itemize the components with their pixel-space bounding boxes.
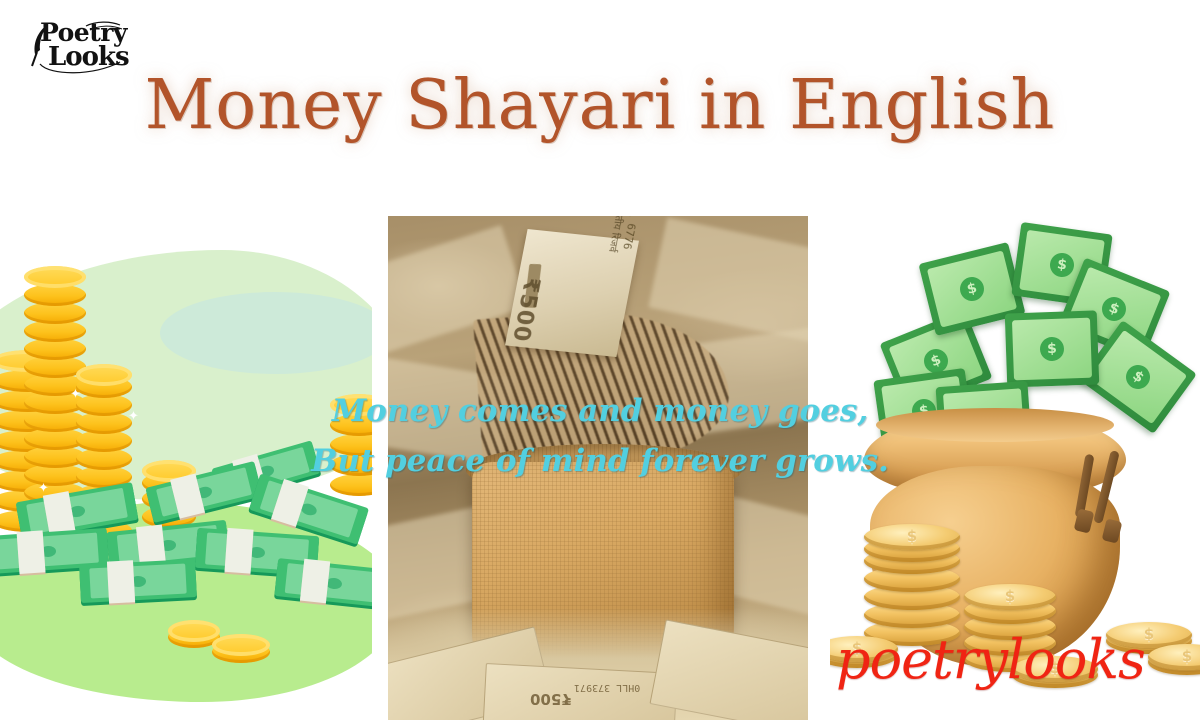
poster-canvas: Poetry Looks Money Shayari in English: [0, 0, 1200, 720]
dollar-bill: $: [1005, 310, 1100, 387]
money-bag-opening: [876, 408, 1114, 442]
floor-note-serial: 0HLL 373971: [574, 682, 640, 693]
right-money-bag-illustration: $ $ $ $ $ $ $ $: [830, 216, 1200, 720]
page-title: Money Shayari in English: [0, 66, 1200, 145]
banknote-bundle: [79, 559, 197, 603]
upright-rupee-note: ₹500 5LL 6776 भारतीय रिजर्व: [505, 229, 639, 357]
sparkle-icon: ✦: [70, 388, 81, 401]
coin-stack-right-edge: [330, 394, 372, 504]
rupee-photograph: ₹500 5LL 6776 भारतीय रिजर्व ₹500 0HLL 37…: [388, 216, 808, 720]
left-money-illustration: ✦ ✦ ✦ ✦: [0, 232, 372, 720]
sparkle-icon: ✦: [38, 482, 49, 495]
sparkle-icon: ✦: [128, 410, 139, 423]
loose-coin: [212, 634, 270, 662]
loose-gold-coin: [1012, 656, 1098, 688]
loose-gold-coin: [1148, 644, 1200, 674]
floor-note-denomination: ₹500: [530, 690, 572, 708]
loose-gold-coin: [830, 636, 898, 668]
